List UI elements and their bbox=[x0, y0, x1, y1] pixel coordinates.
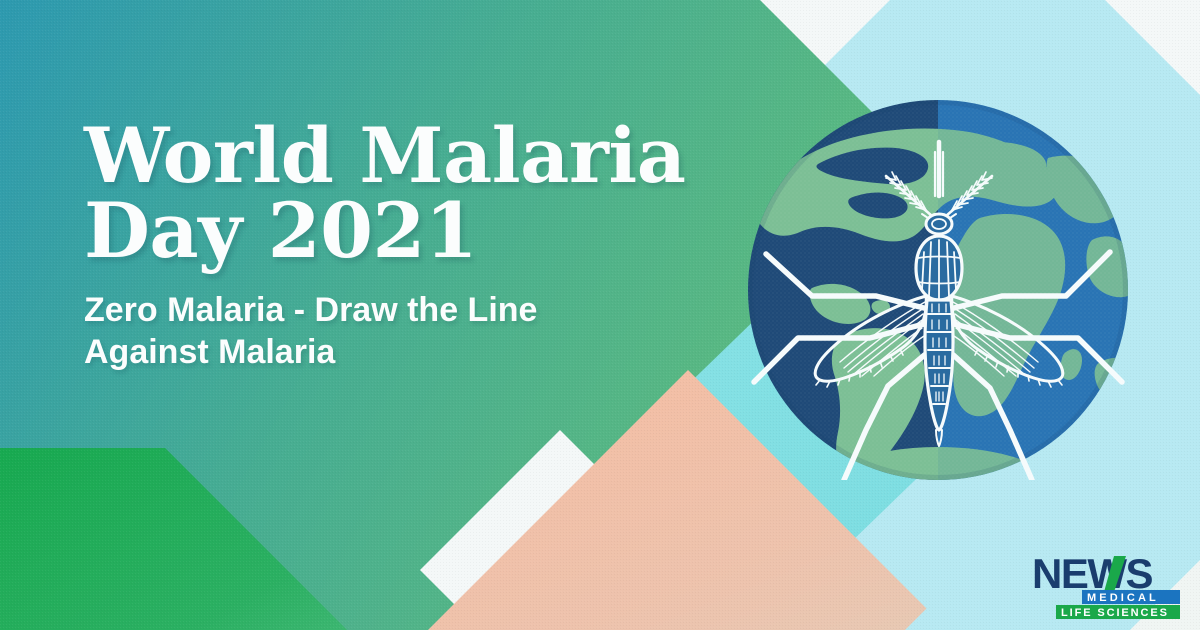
mosquito-thorax bbox=[916, 236, 962, 300]
logo-medical-bar: MEDICAL bbox=[1082, 590, 1180, 604]
news-medical-logo-svg[interactable]: NEWS MEDICAL LIFE SCIENCES bbox=[1030, 548, 1182, 620]
globe-mosquito-illustration bbox=[748, 100, 1128, 480]
headline-block: World Malaria Day 2021 Zero Malaria - Dr… bbox=[84, 118, 704, 373]
world-malaria-day-banner: World Malaria Day 2021 Zero Malaria - Dr… bbox=[0, 0, 1200, 630]
news-medical-logo[interactable]: NEWS MEDICAL LIFE SCIENCES bbox=[1030, 548, 1182, 620]
logo-life-sciences-bar: LIFE SCIENCES bbox=[1056, 605, 1180, 619]
logo-medical-text: MEDICAL bbox=[1087, 592, 1159, 604]
page-subtitle: Zero Malaria - Draw the Line Against Mal… bbox=[84, 290, 704, 373]
logo-life-sciences-text: LIFE SCIENCES bbox=[1061, 607, 1169, 619]
logo-news-text: NEWS bbox=[1032, 550, 1152, 597]
globe-svg bbox=[748, 100, 1128, 480]
page-title: World Malaria Day 2021 bbox=[84, 118, 704, 268]
logo-wordmark-news: NEWS bbox=[1032, 550, 1152, 597]
